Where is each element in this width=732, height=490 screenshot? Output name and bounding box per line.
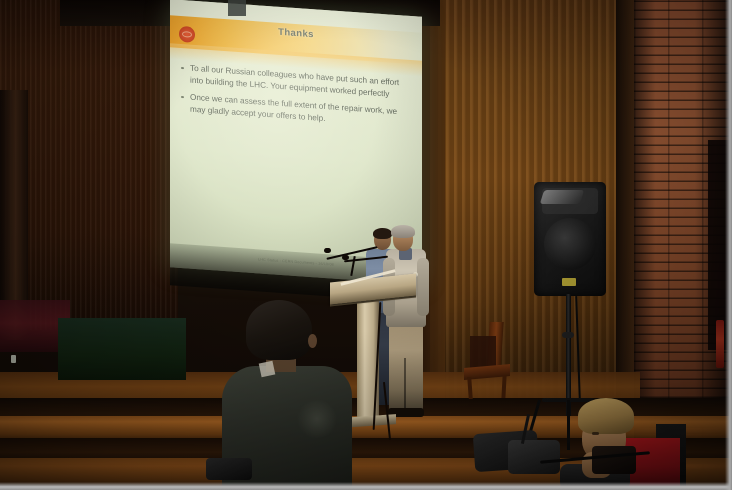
- presenter-hair: [391, 225, 415, 238]
- audience-hair: [578, 398, 634, 434]
- audience-eye: [592, 432, 599, 435]
- wooden-chair: [462, 322, 520, 400]
- photo-border-bottom: [0, 482, 732, 490]
- photo-border-right: [725, 0, 732, 490]
- equipment-bag: [592, 446, 636, 474]
- screen-mount-tab: [228, 0, 246, 16]
- equipment-bag: [206, 458, 252, 480]
- presenter-arm: [417, 258, 429, 316]
- pa-speaker-brand-logo: [562, 278, 576, 286]
- chair-leg: [467, 377, 473, 399]
- audience-shoulder-highlight: [296, 400, 338, 438]
- pa-speaker-woofer: [544, 218, 596, 270]
- audience-member-blond: [560, 398, 680, 490]
- fire-extinguisher: [716, 320, 724, 368]
- audience-shirt-collar: [259, 361, 276, 378]
- tripod-adjust-knob: [562, 332, 574, 338]
- microphone-head: [324, 248, 331, 253]
- water-cup: [11, 355, 16, 363]
- green-draped-table: [58, 318, 186, 380]
- conference-photo: Thanks To all our Russian colleagues who…: [0, 0, 732, 490]
- microphone-head: [342, 255, 349, 260]
- audience-hair: [246, 300, 312, 360]
- equipment-case: [508, 440, 560, 474]
- audience-ear: [308, 334, 317, 348]
- speaker-cable: [575, 296, 581, 400]
- chair-leg: [501, 376, 506, 398]
- pa-speaker-cabinet: [534, 182, 606, 296]
- pa-speaker-highlight: [540, 190, 585, 204]
